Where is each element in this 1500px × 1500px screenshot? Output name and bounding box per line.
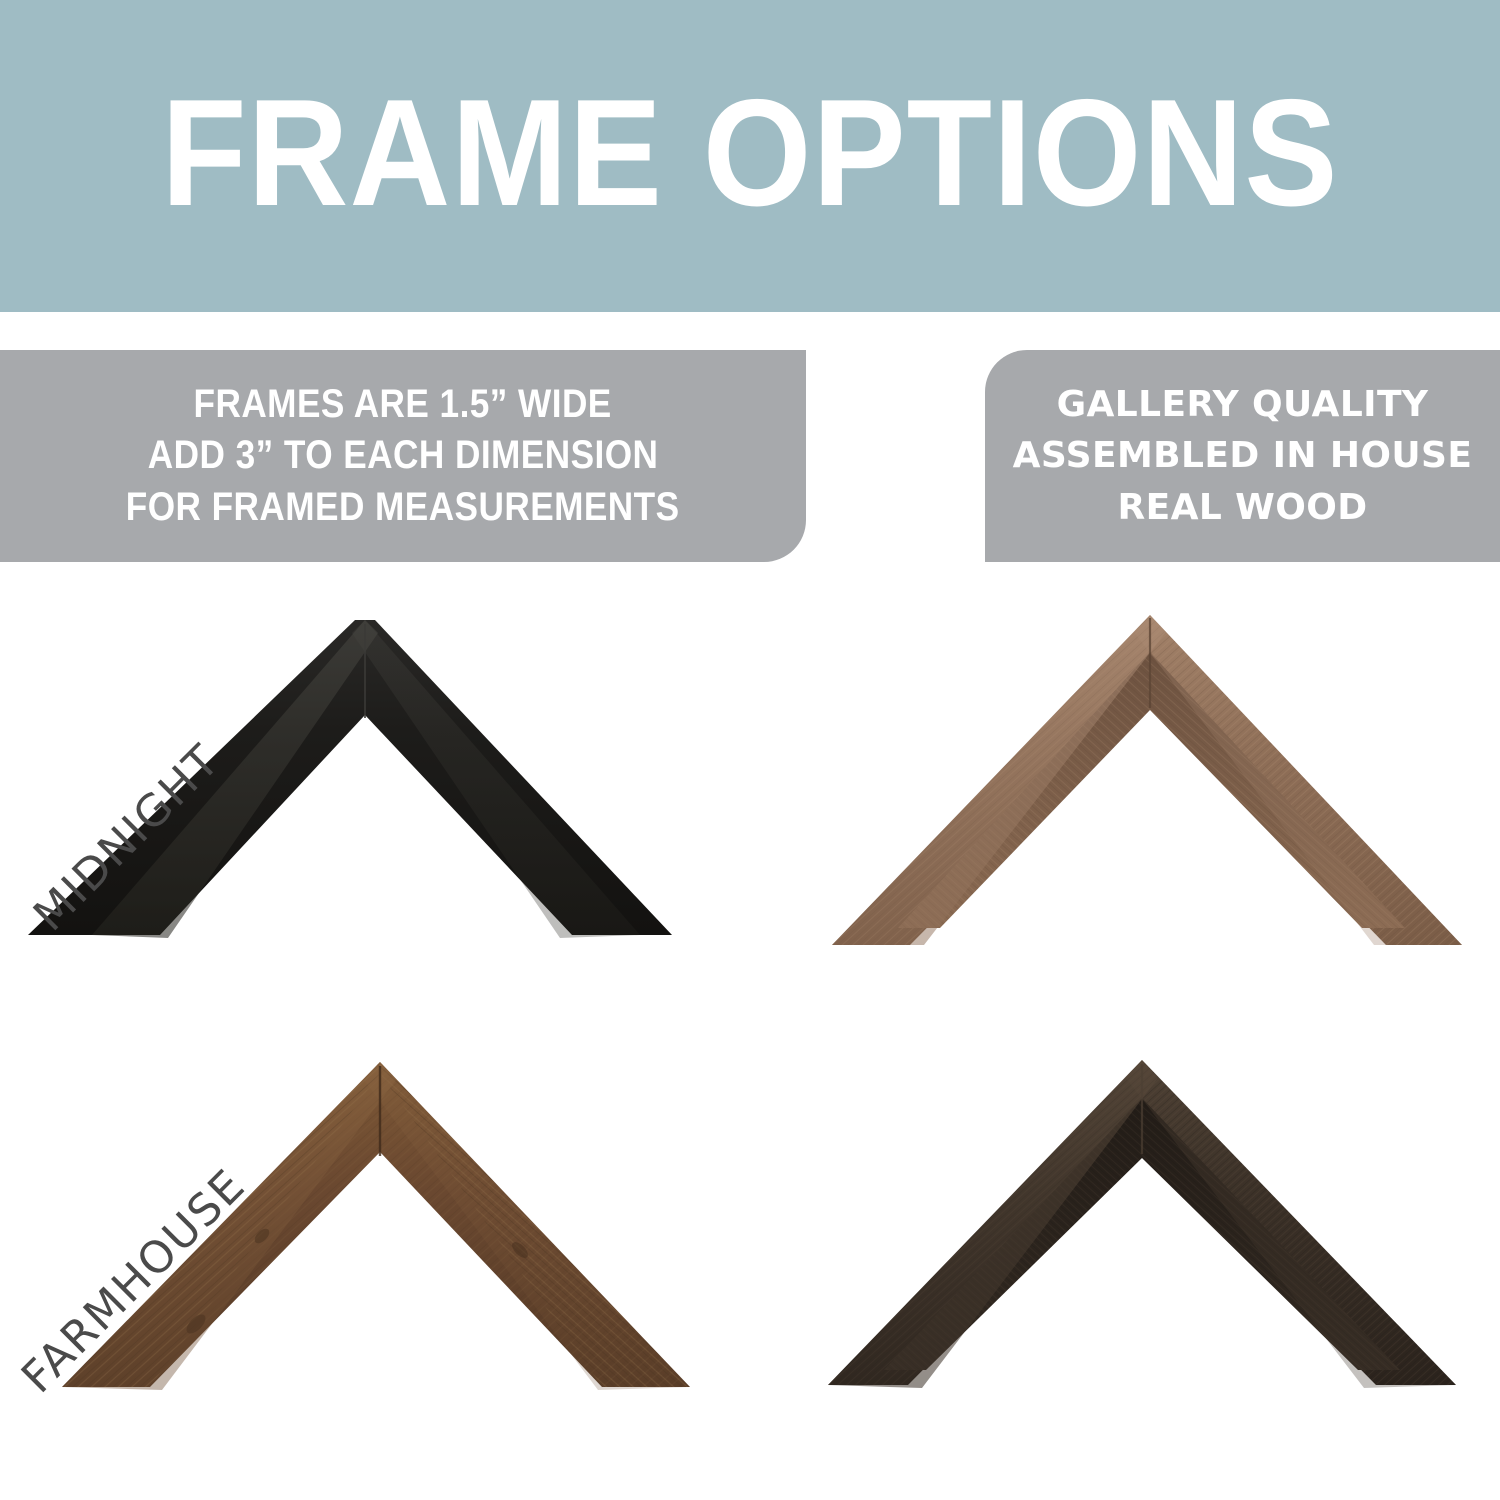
frame-corner-farmhouse	[0, 1040, 750, 1440]
frame-corner-midnight	[0, 590, 750, 990]
frame-swatch-midnight[interactable]: MIDNIGHT	[0, 590, 750, 1020]
info-left-line-2: ADD 3” TO EACH DIMENSION	[148, 430, 659, 482]
frame-swatch-driftwood[interactable]: DRIFTWOOD	[750, 590, 1500, 1020]
info-right-line-1: GALLERY QUALITY	[1057, 379, 1429, 430]
frame-corner-graphic	[750, 1040, 1500, 1440]
info-right-line-3: REAL WOOD	[1117, 482, 1367, 533]
frame-corner-driftwood	[750, 590, 1500, 990]
frame-corner-graphic	[0, 590, 750, 990]
header-banner: FRAME OPTIONS	[0, 0, 1500, 312]
info-left-line-3: FOR FRAMED MEASUREMENTS	[126, 482, 680, 534]
frame-corner-charcoal	[750, 1040, 1500, 1440]
frame-corner-graphic	[750, 590, 1500, 990]
frame-corner-graphic	[0, 1040, 750, 1440]
frame-swatch-charcoal[interactable]: CHARCOAL	[750, 1040, 1500, 1470]
frame-swatch-farmhouse[interactable]: FARMHOUSE	[0, 1040, 750, 1470]
info-left-line-1: FRAMES ARE 1.5” WIDE	[194, 379, 612, 431]
info-right-line-2: ASSEMBLED IN HOUSE	[1013, 430, 1473, 481]
info-box-measurements: FRAMES ARE 1.5” WIDE ADD 3” TO EACH DIME…	[0, 350, 806, 562]
page-title: FRAME OPTIONS	[161, 77, 1338, 235]
info-box-quality: GALLERY QUALITY ASSEMBLED IN HOUSE REAL …	[985, 350, 1500, 562]
